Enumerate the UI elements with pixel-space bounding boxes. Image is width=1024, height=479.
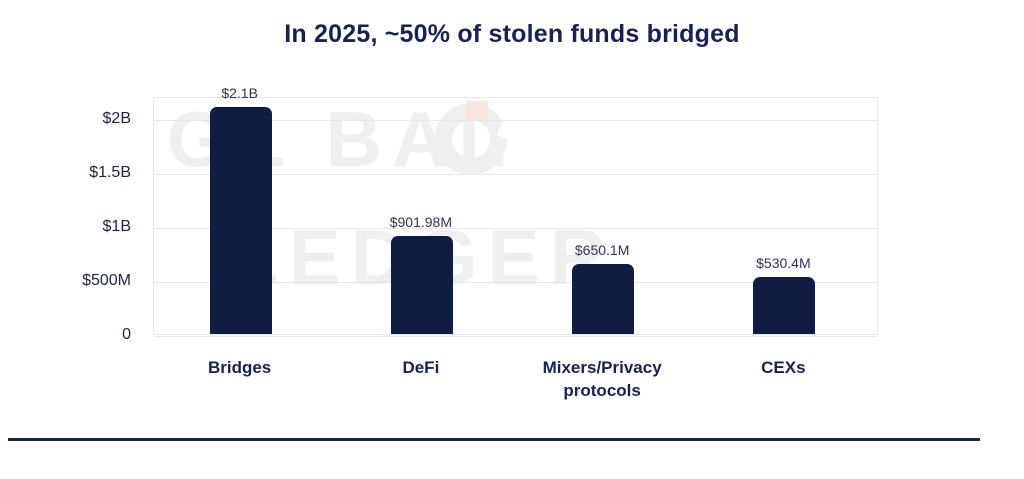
y-axis-tick-label: $1B: [3, 218, 153, 236]
y-axis-tick-label: 0: [3, 326, 153, 344]
x-axis-category-label: Mixers/Privacy protocols: [502, 357, 702, 403]
bar[interactable]: [391, 236, 453, 334]
chart-canvas: In 2025, ~50% of stolen funds bridged GL…: [0, 0, 1024, 479]
bar[interactable]: [572, 264, 634, 334]
x-axis-category-label: DeFi: [321, 357, 521, 380]
x-axis-category-label: CEXs: [683, 357, 883, 380]
gridline: [154, 336, 877, 337]
y-axis-tick-label: $2B: [3, 110, 153, 128]
bar-value-label: $2.1B: [221, 85, 258, 101]
plot-area: [153, 97, 878, 335]
bar-value-label: $901.98M: [390, 214, 452, 230]
chart-title: In 2025, ~50% of stolen funds bridged: [0, 20, 1024, 49]
bar-value-label: $650.1M: [575, 242, 629, 258]
footer-divider: [8, 438, 980, 441]
bar[interactable]: [210, 107, 272, 334]
y-axis-tick-label: $1.5B: [3, 164, 153, 182]
y-axis-tick-label: $500M: [3, 272, 153, 290]
bar[interactable]: [753, 277, 815, 334]
x-axis-category-label: Bridges: [140, 357, 340, 380]
bar-value-label: $530.4M: [756, 255, 810, 271]
y-axis: $2B$1.5B$1B$500M0: [0, 97, 153, 335]
